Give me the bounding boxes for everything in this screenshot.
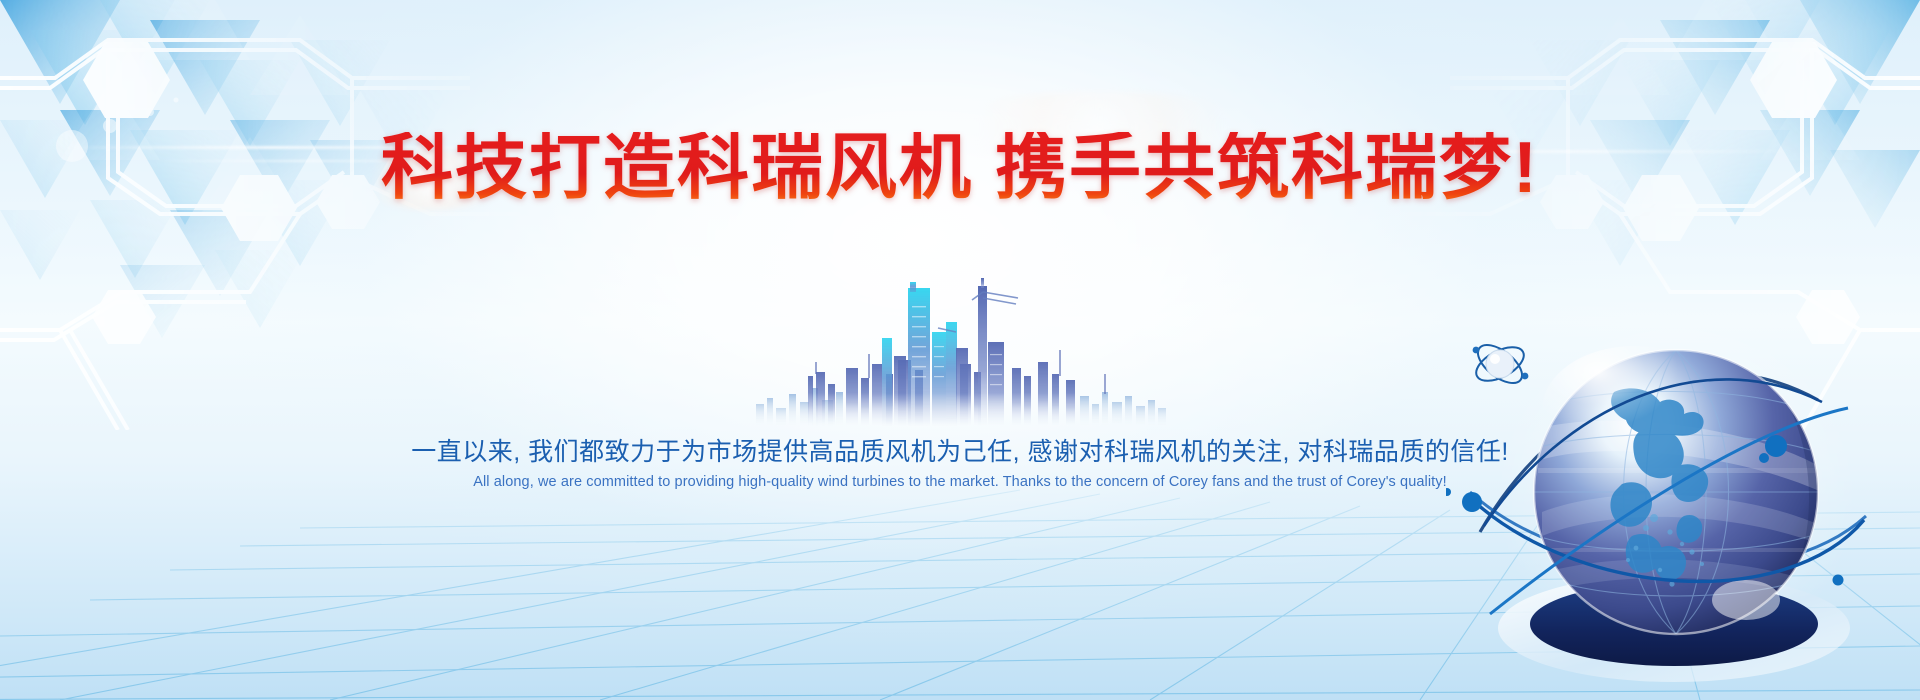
page-title: 科技打造科瑞风机 携手共筑科瑞梦! (0, 132, 1920, 204)
atom-icon (1471, 338, 1529, 391)
promo-banner: 科技打造科瑞风机 携手共筑科瑞梦! (0, 0, 1920, 700)
city-skyline-silhouette (750, 276, 1170, 426)
hexagon-network-pattern-left (0, 0, 560, 430)
glass-globe-with-orbits (1446, 280, 1906, 700)
